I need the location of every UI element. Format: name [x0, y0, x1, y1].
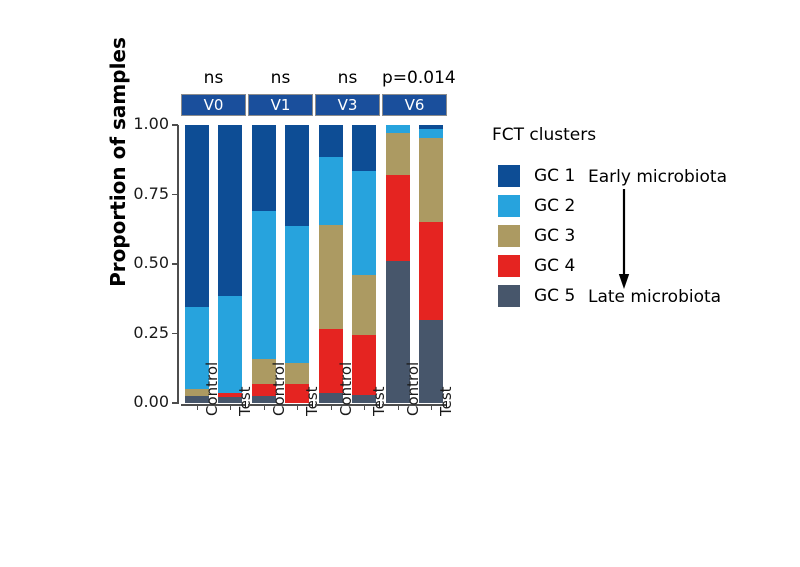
bar-segment[interactable] [419, 129, 443, 137]
significance-label: ns [248, 68, 313, 88]
panel-strip-label: V0 [181, 94, 246, 116]
x-axis-tick-mark [398, 404, 400, 410]
bar-segment[interactable] [285, 226, 309, 362]
y-axis-title: Proportion of samples [106, 32, 130, 292]
bar-segment[interactable] [352, 171, 376, 275]
legend-color-swatch [498, 255, 520, 277]
x-axis-tick-label: Test [437, 386, 455, 416]
y-axis-ticks: 1.000.750.500.250.00 [130, 125, 178, 403]
legend-item-label: GC 4 [534, 255, 575, 277]
x-axis-tick-label: Control [203, 362, 221, 416]
downward-arrow-icon [618, 189, 630, 289]
legend-item-label: GC 5 [534, 285, 575, 307]
significance-label: p=0.014 [382, 68, 447, 88]
legend-color-swatch [498, 195, 520, 217]
stacked-bar-chart-figure: Proportion of samples 1.000.750.500.250.… [0, 0, 800, 567]
bar-segment[interactable] [252, 211, 276, 358]
bar-segment[interactable] [419, 125, 443, 129]
legend-color-swatch [498, 165, 520, 187]
y-axis-tick-label: 0.75 [133, 184, 169, 203]
panel-strip-label: V3 [315, 94, 380, 116]
bar-segment[interactable] [285, 363, 309, 384]
x-axis-tick-mark [264, 404, 266, 410]
legend-item-label: GC 1 [534, 165, 575, 187]
y-axis-tick-label: 1.00 [133, 114, 169, 133]
bar-segment[interactable] [285, 125, 309, 226]
significance-label: ns [315, 68, 380, 88]
x-axis-tick-mark [297, 404, 299, 410]
stacked-bar[interactable] [285, 125, 309, 403]
bar-segment[interactable] [319, 125, 343, 157]
x-axis-tick-label: Control [337, 362, 355, 416]
legend-item-label: GC 2 [534, 195, 575, 217]
x-axis-tick-mark [364, 404, 366, 410]
bar-segment[interactable] [252, 125, 276, 211]
bar-segment[interactable] [218, 125, 242, 296]
bar-segment[interactable] [319, 157, 343, 225]
bar-segment[interactable] [352, 125, 376, 171]
legend-color-swatch [498, 225, 520, 247]
stacked-bar[interactable] [352, 125, 376, 403]
bar-segment[interactable] [185, 125, 209, 307]
panel-strip-label: V1 [248, 94, 313, 116]
legend-title: FCT clusters [492, 125, 596, 145]
legend-item-label: GC 3 [534, 225, 575, 247]
annotation-late-microbiota: Late microbiota [588, 287, 721, 307]
y-axis-tick-label: 0.25 [133, 323, 169, 342]
x-axis-tick-mark [197, 404, 199, 410]
x-axis-tick-mark [431, 404, 433, 410]
panel-strip-label: V6 [382, 94, 447, 116]
x-axis-tick-label: Control [404, 362, 422, 416]
stacked-bar[interactable] [218, 125, 242, 403]
x-axis-tick-mark [331, 404, 333, 410]
bar-segment[interactable] [386, 175, 410, 261]
bar-segment[interactable] [352, 275, 376, 335]
bar-segment[interactable] [386, 125, 410, 133]
bar-segment[interactable] [218, 296, 242, 393]
bar-segment[interactable] [419, 222, 443, 319]
significance-label: ns [181, 68, 246, 88]
bar-segment[interactable] [386, 133, 410, 175]
annotation-early-microbiota: Early microbiota [588, 167, 727, 187]
bar-segment[interactable] [319, 225, 343, 329]
x-axis-tick-label: Control [270, 362, 288, 416]
y-axis-tick-label: 0.00 [133, 392, 169, 411]
y-axis-line [177, 125, 179, 404]
y-axis-tick-label: 0.50 [133, 253, 169, 272]
x-axis-tick-mark [230, 404, 232, 410]
bar-segment[interactable] [419, 138, 443, 223]
stacked-bar[interactable] [419, 125, 443, 403]
legend-color-swatch [498, 285, 520, 307]
